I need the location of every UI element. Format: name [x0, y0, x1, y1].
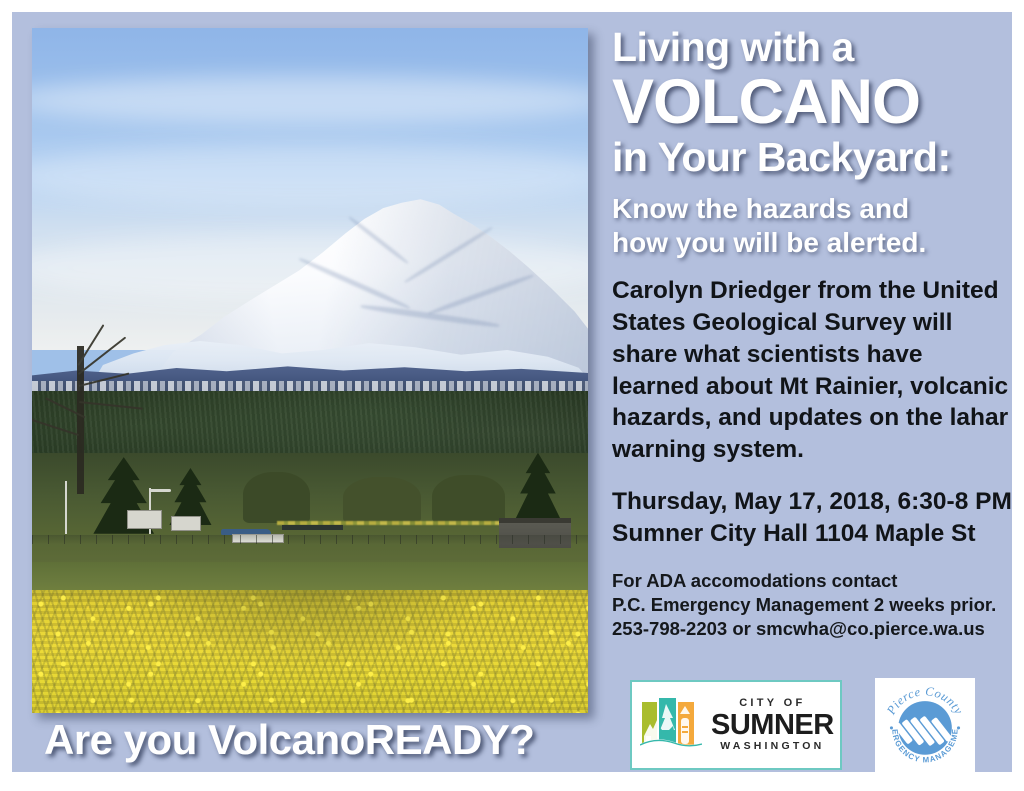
text-column: Living with a VOLCANO in Your Backyard: … [612, 26, 1012, 772]
tree-branch [32, 418, 79, 436]
daffodil-field [32, 590, 588, 713]
city-of-sumner-logo: CITY OF SUMNER WASHINGTON [630, 680, 842, 770]
cloud-band [32, 76, 588, 124]
subheadline: Know the hazards and how you will be ale… [612, 192, 1012, 260]
tree-branch [79, 401, 143, 410]
headline-line-3: in Your Backyard: [612, 136, 1012, 179]
poster-canvas: Are you VolcanoREADY? Living with a VOLC… [12, 12, 1012, 772]
sumner-state-text: WASHINGTON [720, 741, 824, 752]
volcanoready-tagline: Are you VolcanoREADY? [44, 716, 534, 764]
conifer-tree [510, 453, 566, 521]
ada-notice: For ADA accomodations contact P.C. Emerg… [612, 569, 1012, 641]
ada-line-1: For ADA accomodations contact [612, 569, 1012, 593]
sumner-name-text: SUMNER [711, 711, 834, 740]
deciduous-tree [343, 477, 421, 523]
deciduous-tree [243, 472, 310, 522]
sumner-wordmark: CITY OF SUMNER WASHINGTON [711, 698, 834, 752]
deciduous-tree [432, 475, 504, 523]
event-datetime: Thursday, May 17, 2018, 6:30-8 PM [612, 486, 1012, 518]
tree-branch [78, 372, 129, 387]
farm-building [171, 516, 201, 531]
mount-rainier-photo [32, 28, 588, 713]
ada-line-2: P.C. Emergency Management 2 weeks prior. [612, 593, 1012, 617]
headline-line-1: Living with a [612, 26, 1012, 69]
event-venue: Sumner City Hall 1104 Maple St [612, 518, 1012, 550]
ada-line-3: 253-798-2203 or smcwha@co.pierce.wa.us [612, 617, 1012, 641]
pierce-county-seal-icon: Pierce County EMERGENCY MANAGEMENT [879, 680, 971, 772]
sumner-city-of-text: CITY OF [739, 698, 805, 709]
wire-fence [32, 535, 588, 544]
subheadline-line-2: how you will be alerted. [612, 226, 1012, 260]
carport-structure [282, 525, 343, 530]
photo-inner [32, 28, 588, 713]
bare-tree [32, 288, 221, 494]
tree-branch [77, 325, 104, 367]
description-paragraph: Carolyn Driedger from the United States … [612, 275, 1012, 466]
farm-building [127, 510, 162, 530]
event-details: Thursday, May 17, 2018, 6:30-8 PM Sumner… [612, 486, 1012, 550]
sumner-logo-mark-icon [640, 696, 702, 754]
pierce-county-emergency-management-logo: Pierce County EMERGENCY MANAGEMENT [875, 678, 975, 772]
headline-line-2: VOLCANO [612, 70, 1012, 136]
logo-row: CITY OF SUMNER WASHINGTON [630, 678, 1012, 772]
cloud-band [32, 144, 588, 206]
subheadline-line-1: Know the hazards and [612, 192, 1012, 226]
